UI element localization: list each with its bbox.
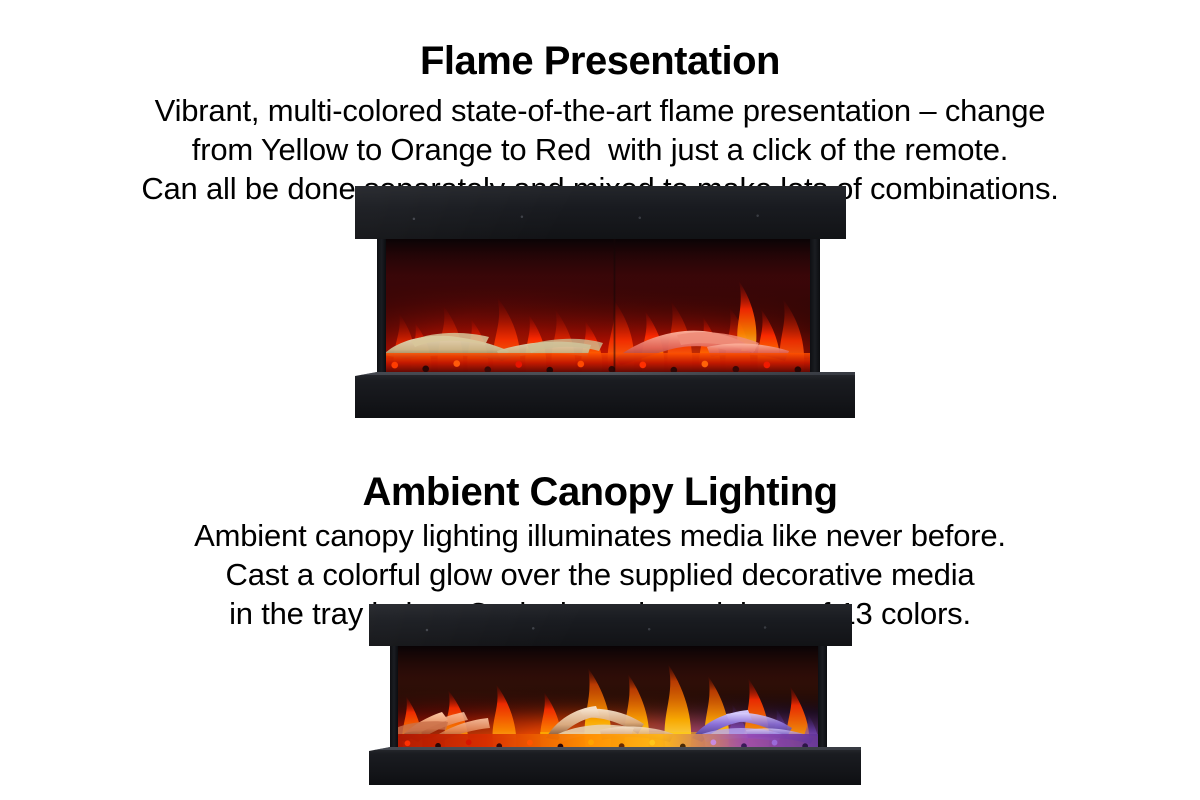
slide-canvas: Flame Presentation Vibrant, multi-colore… [0, 0, 1200, 800]
page-title-flame-presentation: Flame Presentation [0, 39, 1200, 83]
firebox-right-glass-post [810, 239, 820, 375]
flame-description-line-2: from Yellow to Orange to Red with just a… [0, 132, 1200, 168]
fireplace-firebox-glass [390, 646, 827, 750]
fireplace-canopy-top [369, 604, 852, 646]
firebox-left-glass-post [377, 239, 386, 375]
fireplace-image-red-flame [352, 186, 858, 420]
fireplace-base-plinth [369, 747, 861, 785]
ember-media-bed [377, 353, 820, 375]
firebox-left-glass-post [390, 646, 398, 750]
flame-description-line-1: Vibrant, multi-colored state-of-the-art … [0, 93, 1200, 129]
firebox-right-glass-post [818, 646, 827, 750]
firebox-glass-seam [613, 239, 616, 375]
fireplace-image-rainbow-canopy [366, 604, 864, 786]
ambient-description-line-1: Ambient canopy lighting illuminates medi… [0, 518, 1200, 554]
fireplace-canopy-top [355, 186, 846, 239]
ember-dots [377, 353, 820, 375]
fireplace-firebox-glass [377, 239, 820, 375]
ambient-description-line-2: Cast a colorful glow over the supplied d… [0, 557, 1200, 593]
fireplace-base-plinth [355, 372, 855, 418]
page-title-ambient-canopy-lighting: Ambient Canopy Lighting [0, 470, 1200, 514]
